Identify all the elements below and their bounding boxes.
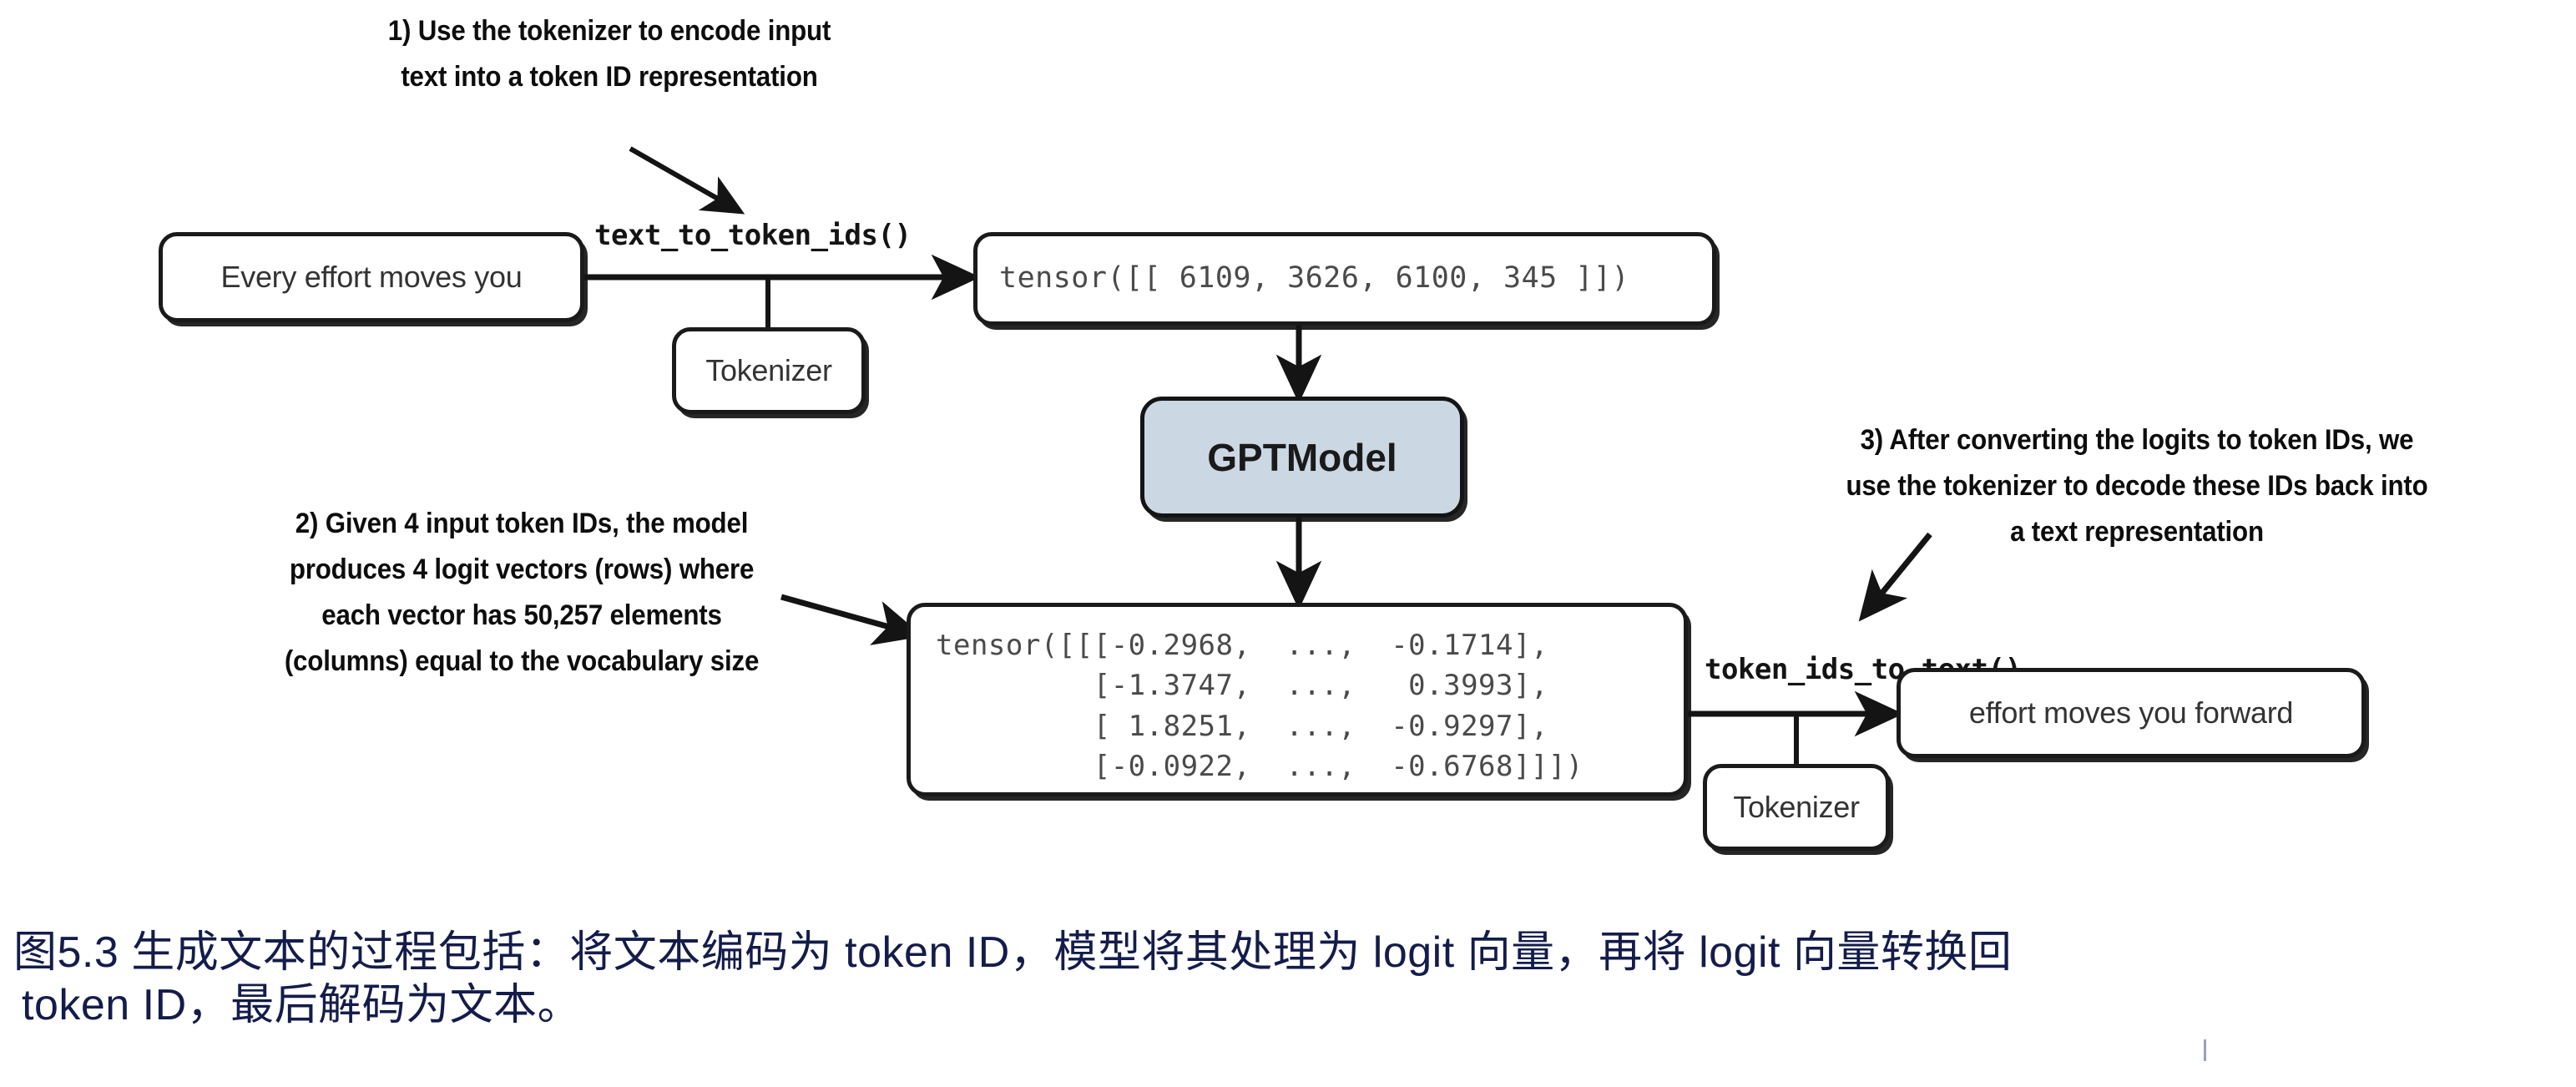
annotation-step-3-line-3: a text representation (1784, 509, 2490, 555)
token-ids-tensor-value: tensor([[ 6109, 3626, 6100, 345 ]]) (999, 258, 1629, 300)
edge-label-text-to-token-ids: text_to_token_ids() (594, 219, 911, 252)
annotation-step-3: 3) After converting the logits to token … (1784, 417, 2490, 555)
tokenizer-right-label: Tokenizer (1733, 790, 1859, 825)
annotation-step-2: 2) Given 4 input token IDs, the model pr… (219, 501, 826, 685)
arrow-annotation-1 (630, 149, 740, 211)
figure-caption-line-2: token ID，最后解码为文本。 (13, 979, 2568, 1032)
logits-tensor-box[interactable]: tensor([[[-0.2968, ..., -0.1714], [-1.37… (907, 603, 1688, 796)
figure-caption: 图5.3 生成文本的过程包括：将文本编码为 token ID，模型将其处理为 l… (13, 927, 2568, 1033)
gpt-model-box[interactable]: GPTModel (1140, 397, 1464, 518)
annotation-step-2-line-1: 2) Given 4 input token IDs, the model (219, 501, 826, 547)
output-text-label: effort moves you forward (1969, 695, 2293, 731)
annotation-step-2-line-4: (columns) equal to the vocabulary size (219, 639, 826, 685)
annotation-step-1: 1) Use the tokenizer to encode input tex… (341, 8, 878, 100)
input-text-label: Every effort moves you (221, 260, 523, 295)
output-text-box[interactable]: effort moves you forward (1897, 668, 2366, 758)
tokenizer-box-right[interactable]: Tokenizer (1703, 764, 1890, 851)
gpt-model-label: GPTModel (1207, 435, 1397, 480)
page-tick-mark (2204, 1039, 2206, 1061)
token-ids-tensor-box[interactable]: tensor([[ 6109, 3626, 6100, 345 ]]) (973, 232, 1716, 326)
annotation-step-2-line-2: produces 4 logit vectors (rows) where (219, 547, 826, 593)
annotation-step-2-line-3: each vector has 50,257 elements (219, 593, 826, 639)
annotation-step-1-line-2: text into a token ID representation (341, 54, 878, 100)
figure-caption-line-1: 图5.3 生成文本的过程包括：将文本编码为 token ID，模型将其处理为 l… (13, 927, 2568, 979)
annotation-step-3-line-2: use the tokenizer to decode these IDs ba… (1784, 463, 2490, 509)
tokenizer-left-label: Tokenizer (705, 353, 831, 388)
annotation-step-1-line-1: 1) Use the tokenizer to encode input (341, 8, 878, 54)
input-text-box[interactable]: Every effort moves you (159, 232, 584, 322)
tokenizer-box-left[interactable]: Tokenizer (672, 327, 866, 414)
logits-tensor-value: tensor([[[-0.2968, ..., -0.1714], [-1.37… (936, 625, 1583, 786)
annotation-step-3-line-1: 3) After converting the logits to token … (1784, 417, 2490, 463)
